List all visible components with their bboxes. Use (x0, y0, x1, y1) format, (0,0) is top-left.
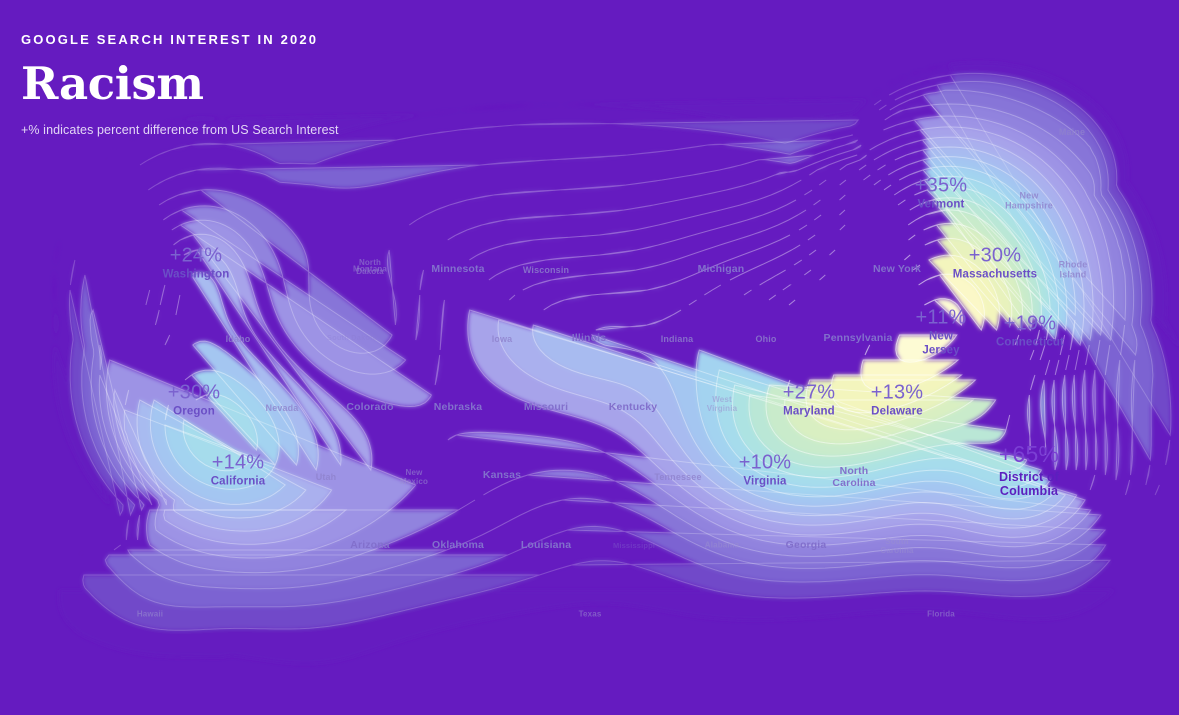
contour-heatmap (0, 0, 1179, 715)
contour-band (831, 255, 999, 413)
infographic-canvas: +24%Washington+30%Oregon+14%California+3… (0, 0, 1179, 715)
search-interest-map (0, 0, 1179, 715)
contour-band (861, 274, 984, 391)
contour-band (896, 299, 963, 362)
